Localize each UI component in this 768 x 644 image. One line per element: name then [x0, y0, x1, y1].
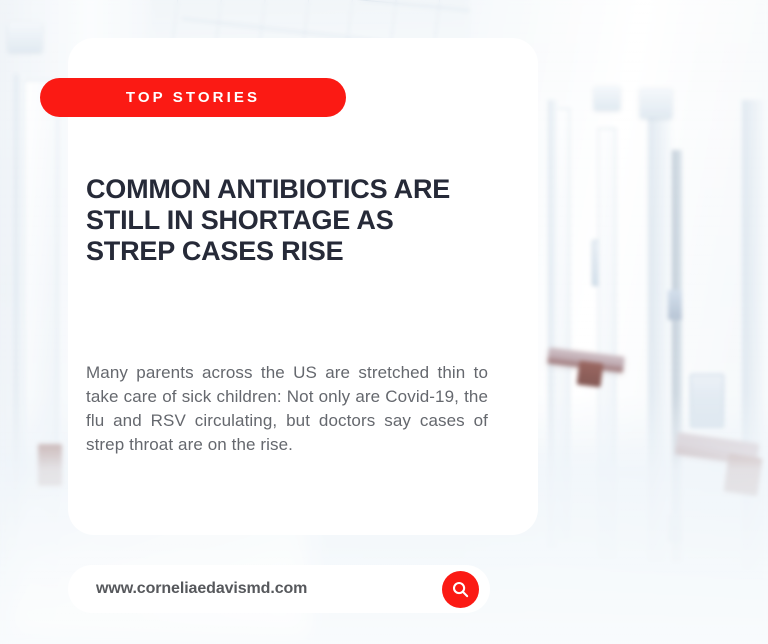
website-search-bar[interactable]: www.corneliaedavismd.com: [68, 565, 490, 613]
search-button[interactable]: [442, 571, 479, 608]
search-icon: [451, 580, 470, 599]
top-stories-badge: TOP STORIES: [40, 78, 346, 117]
top-stories-badge-label: TOP STORIES: [126, 90, 260, 105]
social-post-poster: TOP STORIES Common Antibiotics Are Still…: [0, 0, 768, 644]
article-body-text: Many parents across the US are stretched…: [86, 361, 488, 457]
article-headline: Common Antibiotics Are Still In Shortage…: [86, 174, 486, 267]
website-url-text: www.corneliaedavismd.com: [96, 580, 307, 598]
